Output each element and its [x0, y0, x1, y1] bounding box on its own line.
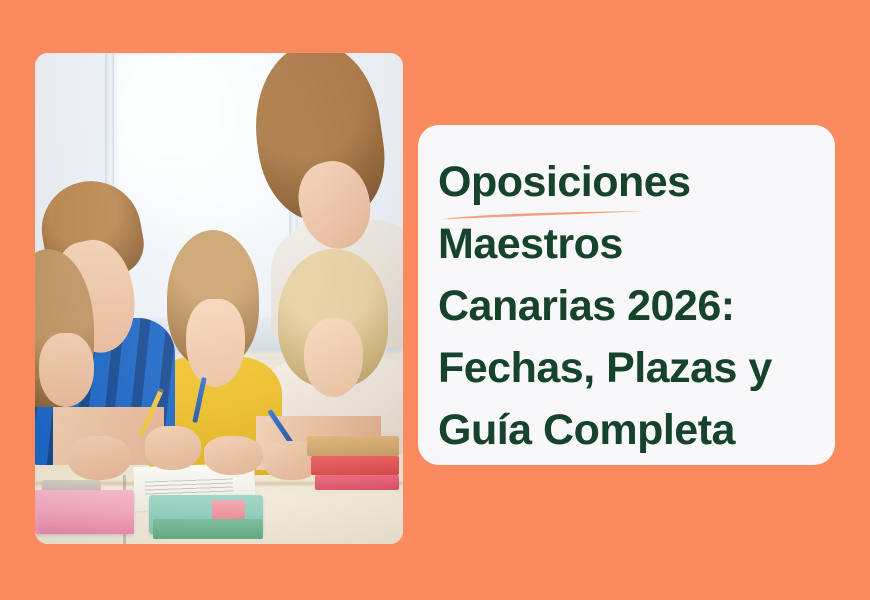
stacked-notebook	[315, 475, 400, 490]
hand	[68, 436, 131, 480]
title-line-2: Maestros	[438, 213, 813, 275]
stacked-notebook	[307, 436, 399, 456]
hand	[145, 426, 200, 470]
page-title: Oposiciones Maestros Canarias 2026: Fech…	[438, 151, 813, 461]
stacked-notebook	[311, 456, 399, 476]
underline-brush-stroke	[439, 210, 645, 222]
title-line-1-text: Oposiciones	[438, 158, 691, 206]
girl-left-face	[39, 333, 94, 407]
title-card: Oposiciones Maestros Canarias 2026: Fech…	[418, 125, 835, 465]
article-photo	[35, 53, 403, 544]
green-notebook-pages	[153, 519, 263, 539]
pink-notebook-pages	[39, 510, 135, 535]
girl-blonde-face	[304, 318, 363, 397]
title-line-3: Canarias 2026:	[438, 275, 813, 337]
hand	[204, 436, 263, 475]
title-line-1-highlighted: Oposiciones	[438, 151, 691, 213]
title-line-5: Guía Completa	[438, 399, 813, 461]
girl-center-face	[186, 299, 245, 387]
eraser-icon	[212, 500, 245, 520]
title-line-4: Fechas, Plazas y	[438, 337, 813, 399]
